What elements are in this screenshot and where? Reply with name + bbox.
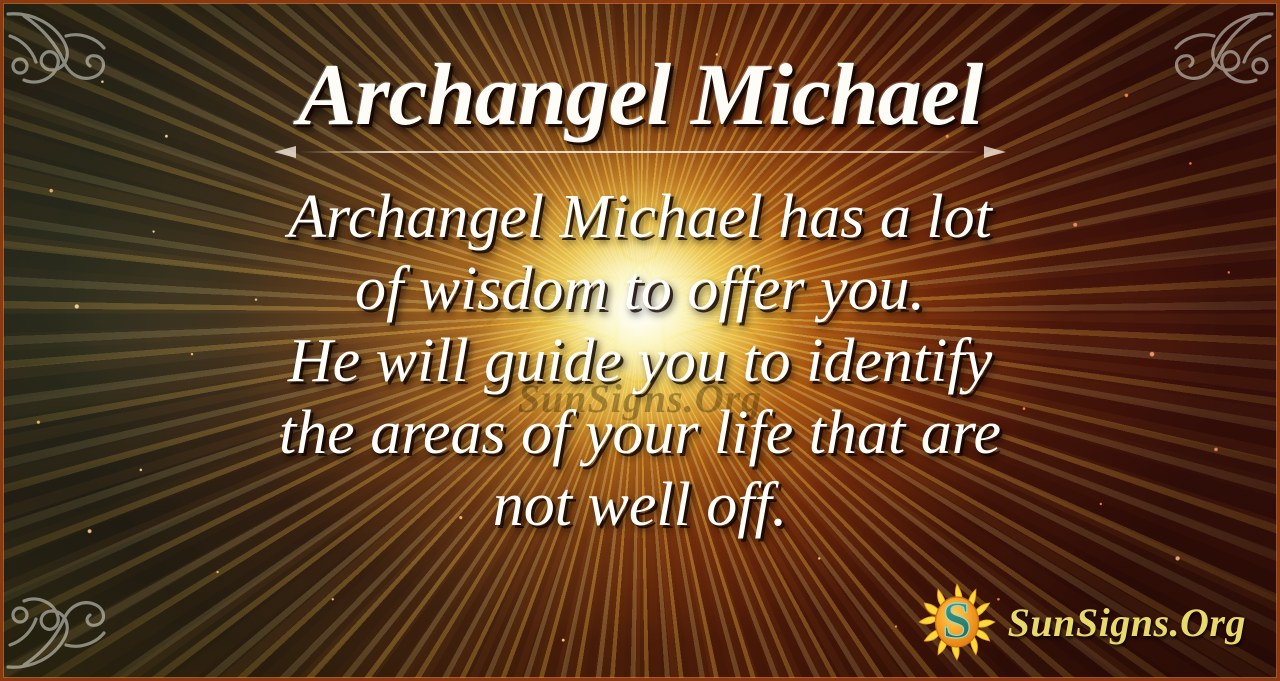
arrow-head-left-icon xyxy=(274,146,296,158)
divider-line xyxy=(300,151,980,153)
double-arrow-divider-icon xyxy=(260,144,1020,160)
arrow-head-right-icon xyxy=(984,146,1006,158)
message-line: not well off. xyxy=(80,470,1200,542)
message-line: Archangel Michael has a lot xyxy=(80,182,1200,254)
message-line: of wisdom to offer you. xyxy=(80,254,1200,326)
page-title: Archangel Michael xyxy=(298,52,983,140)
brand-name: SunSigns.Org xyxy=(1008,599,1246,646)
message-line: the areas of your life that are xyxy=(80,398,1200,470)
sunsigns-logo[interactable]: S SunSigns.Org xyxy=(914,579,1246,665)
banner-message: Archangel Michael has a lot of wisdom to… xyxy=(80,182,1200,542)
message-line: He will guide you to identify xyxy=(80,326,1200,398)
archangel-michael-banner: SunSigns.Org Archangel Michae xyxy=(0,0,1280,681)
sun-with-s-icon: S xyxy=(914,579,1000,665)
logo-letter-s: S xyxy=(942,592,971,649)
